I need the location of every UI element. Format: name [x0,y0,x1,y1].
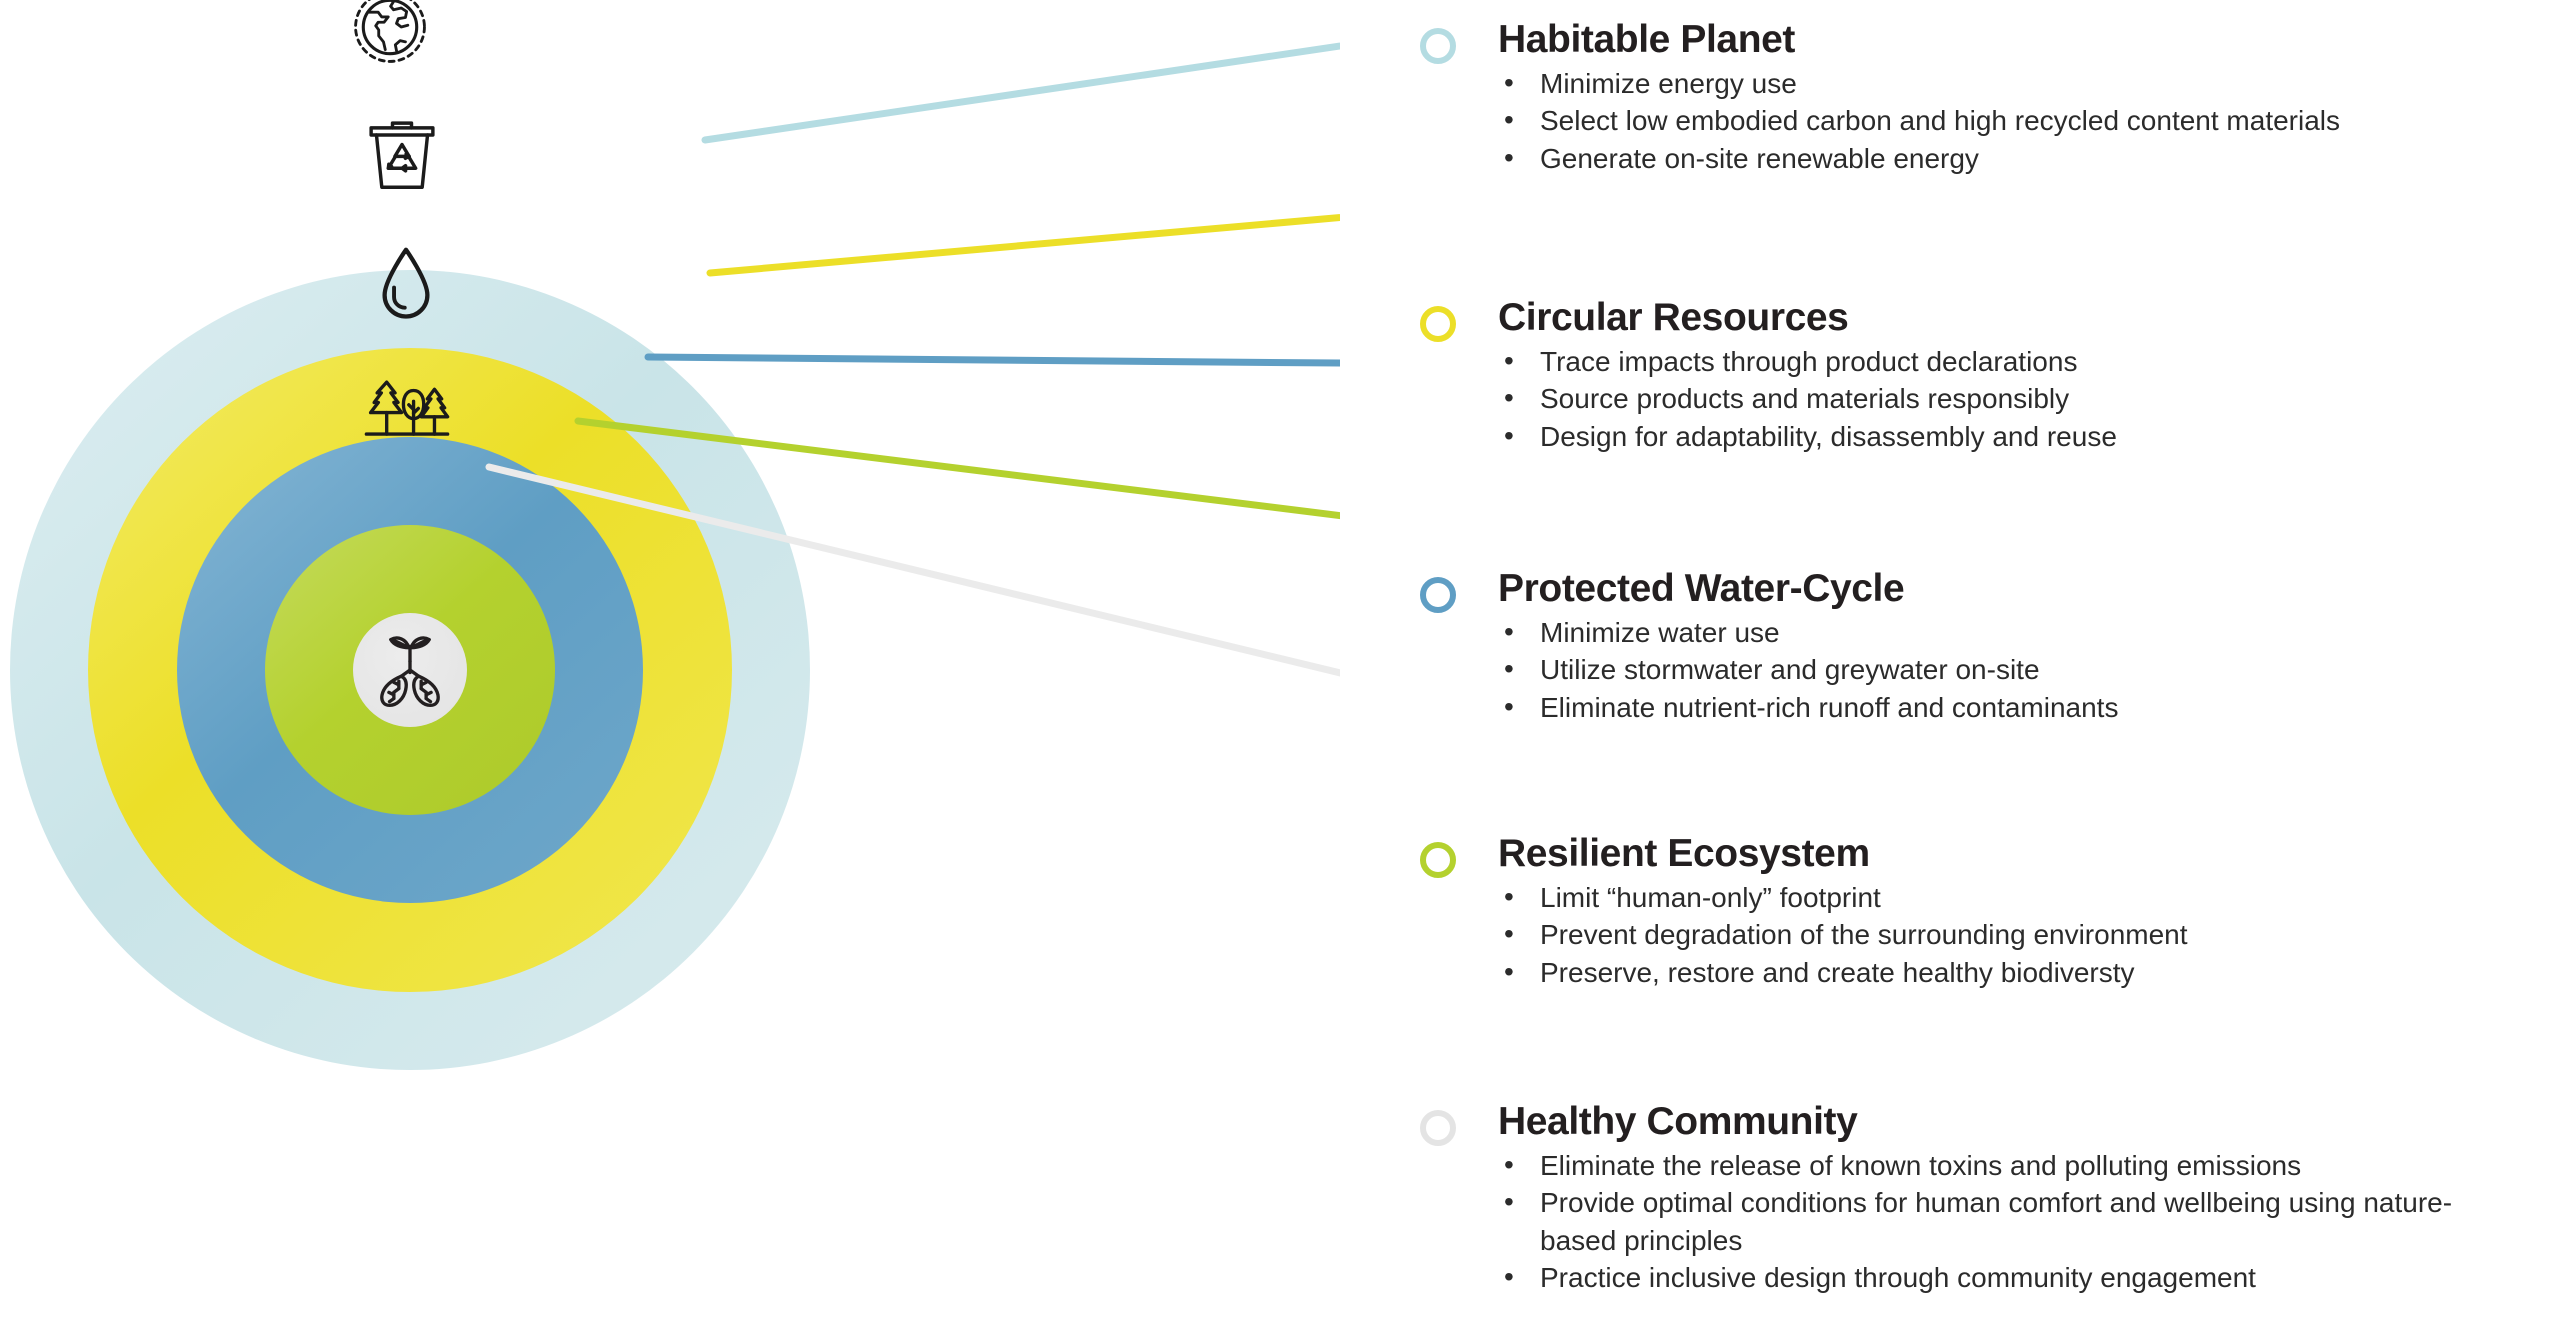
list-item-text: Limit “human-only” footprint [1540,882,1881,913]
list-item-text: Source products and materials responsibl… [1540,383,2069,414]
list-item-text: Trace impacts through product declaratio… [1540,346,2077,377]
legend-block-resilient-ecosystem[interactable]: Resilient Ecosystem •Limit “human-only” … [1420,832,2560,991]
legend-block-circular-resources[interactable]: Circular Resources •Trace impacts throug… [1420,296,2560,455]
list-item: •Eliminate nutrient-rich runoff and cont… [1498,689,2560,727]
legend-title-healthy-community: Healthy Community [1498,1100,2560,1145]
bullet-glyph: • [1504,1183,1514,1221]
bullet-glyph: • [1504,1146,1514,1184]
connector-protected-water-cycle [648,357,1340,364]
legend-marker-resilient-ecosystem [1420,842,1456,878]
rings-diagram [0,0,1340,1340]
legend-bullets-healthy-community: •Eliminate the release of known toxins a… [1420,1147,2560,1297]
list-item: •Eliminate the release of known toxins a… [1498,1147,2560,1185]
list-item: •Preserve, restore and create healthy bi… [1498,954,2560,992]
lungs-leaf-icon [374,631,446,709]
legend-marker-circular-resources [1420,306,1456,342]
bullet-glyph: • [1504,101,1514,139]
legend-bullets-circular-resources: •Trace impacts through product declarati… [1420,343,2560,456]
legend-marker-habitable-planet [1420,28,1456,64]
list-item-text: Practice inclusive design through commun… [1540,1262,2256,1293]
list-item-text: Eliminate nutrient-rich runoff and conta… [1540,692,2118,723]
legend-title-protected-water-cycle: Protected Water-Cycle [1498,567,2560,612]
list-item-text: Select low embodied carbon and high recy… [1540,105,2340,136]
list-item: •Generate on-site renewable energy [1498,140,2560,178]
bullet-glyph: • [1504,688,1514,726]
recycle-bin-icon [366,116,438,192]
list-item-text: Design for adaptability, disassembly and… [1540,421,2117,452]
rings-svg [0,0,1340,1340]
list-item: •Provide optimal conditions for human co… [1498,1184,2498,1259]
list-item-text: Prevent degradation of the surrounding e… [1540,919,2188,950]
list-item: •Minimize water use [1498,614,2560,652]
list-item-text: Minimize water use [1540,617,1780,648]
list-item: •Utilize stormwater and greywater on-sit… [1498,651,2560,689]
list-item: •Prevent degradation of the surrounding … [1498,916,2560,954]
list-item-text: Utilize stormwater and greywater on-site [1540,654,2040,685]
list-item-text: Eliminate the release of known toxins an… [1540,1150,2301,1181]
list-item-text: Provide optimal conditions for human com… [1540,1187,2452,1256]
list-item: •Source products and materials responsib… [1498,380,2560,418]
connector-circular-resources [710,208,1340,273]
bullet-glyph: • [1504,1258,1514,1296]
bullet-glyph: • [1504,342,1514,380]
bullet-glyph: • [1504,379,1514,417]
bullet-glyph: • [1504,953,1514,991]
globe-icon [352,0,428,65]
legend-title-resilient-ecosystem: Resilient Ecosystem [1498,832,2560,877]
list-item-text: Preserve, restore and create healthy bio… [1540,957,2135,988]
bullet-glyph: • [1504,613,1514,651]
legend-block-healthy-community[interactable]: Healthy Community •Eliminate the release… [1420,1100,2560,1297]
list-item-text: Minimize energy use [1540,68,1797,99]
legend-block-protected-water-cycle[interactable]: Protected Water-Cycle •Minimize water us… [1420,567,2560,726]
bullet-glyph: • [1504,915,1514,953]
connector-habitable-planet [705,30,1340,140]
legend-marker-protected-water-cycle [1420,577,1456,613]
water-drop-icon [378,246,434,324]
bullet-glyph: • [1504,417,1514,455]
list-item: •Select low embodied carbon and high rec… [1498,102,2560,140]
legend-bullets-habitable-planet: •Minimize energy use •Select low embodie… [1420,65,2560,178]
bullet-glyph: • [1504,139,1514,177]
list-item: •Practice inclusive design through commu… [1498,1259,2560,1297]
list-item: •Limit “human-only” footprint [1498,879,2560,917]
bullet-glyph: • [1504,878,1514,916]
legend-bullets-resilient-ecosystem: •Limit “human-only” footprint •Prevent d… [1420,879,2560,992]
bullet-glyph: • [1504,650,1514,688]
legend-panel: Habitable Planet •Minimize energy use •S… [1420,0,2560,1333]
list-item: •Design for adaptability, disassembly an… [1498,418,2560,456]
list-item-text: Generate on-site renewable energy [1540,143,1979,174]
legend-marker-healthy-community [1420,1110,1456,1146]
list-item: •Minimize energy use [1498,65,2560,103]
legend-title-habitable-planet: Habitable Planet [1498,18,2560,63]
bullet-glyph: • [1504,64,1514,102]
legend-title-circular-resources: Circular Resources [1498,296,2560,341]
legend-bullets-protected-water-cycle: •Minimize water use •Utilize stormwater … [1420,614,2560,727]
legend-block-habitable-planet[interactable]: Habitable Planet •Minimize energy use •S… [1420,18,2560,177]
trees-icon [364,377,450,447]
list-item: •Trace impacts through product declarati… [1498,343,2560,381]
